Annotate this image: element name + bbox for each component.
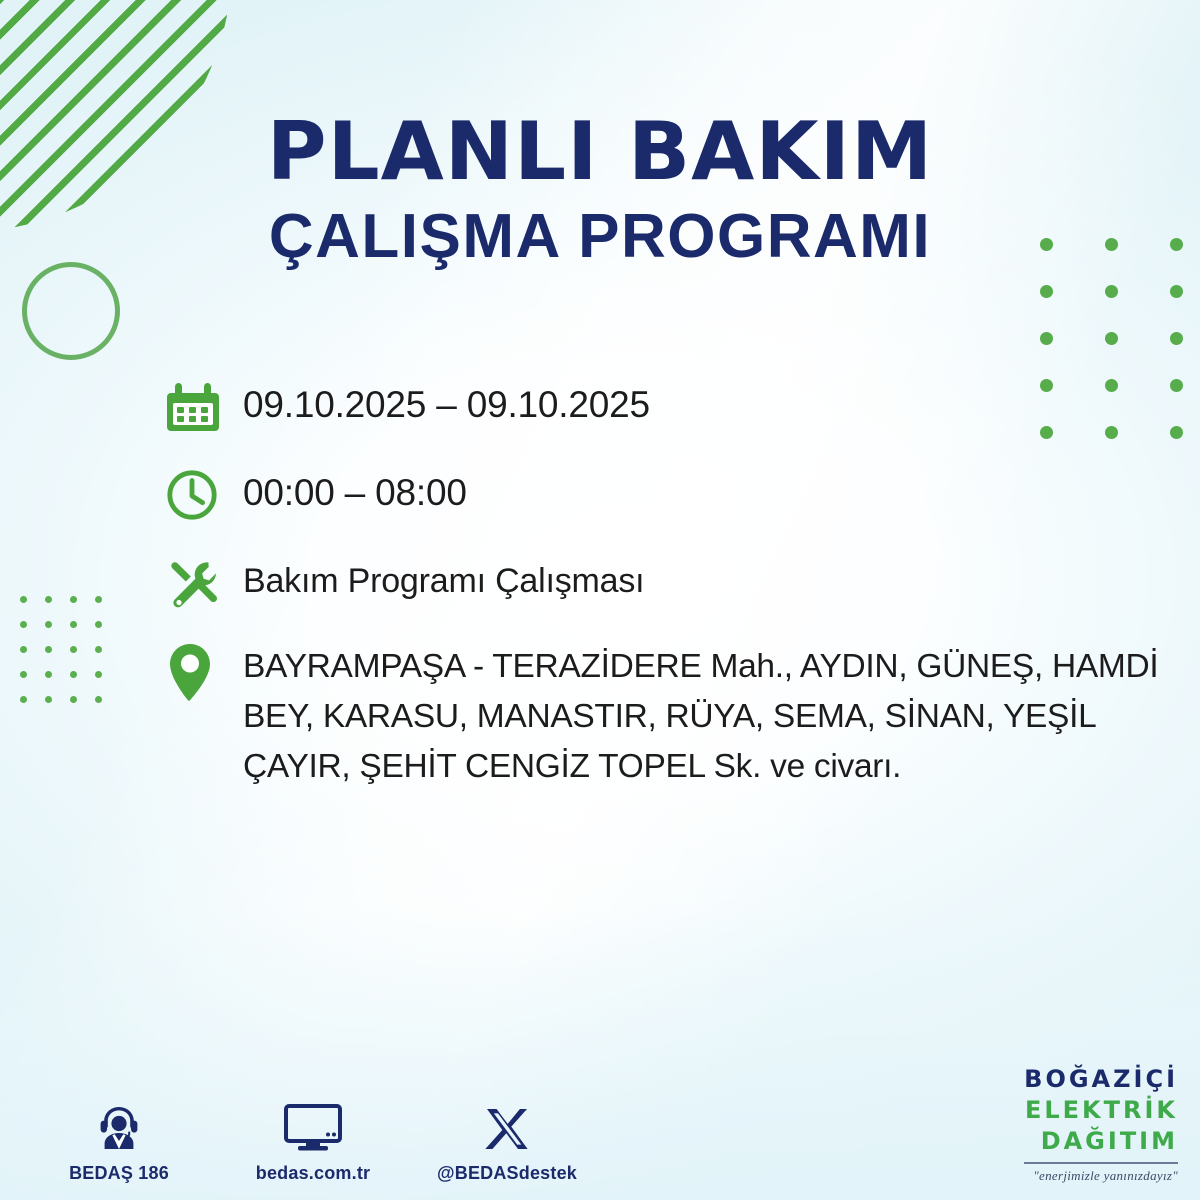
info-row-address: BAYRAMPAŞA - TERAZİDERE Mah., AYDIN, GÜN… [165, 638, 1185, 792]
contact-item-social[interactable]: @BEDASdestek [438, 1095, 576, 1184]
tools-icon [165, 552, 243, 614]
company-logo: BOĞAZİÇİ ELEKTRİK DAĞITIM "enerjimizle y… [1024, 1067, 1178, 1182]
contact-label-website: bedas.com.tr [256, 1163, 370, 1184]
monitor-icon [284, 1095, 342, 1153]
address-value: BAYRAMPAŞA - TERAZİDERE Mah., AYDIN, GÜN… [243, 638, 1185, 792]
contact-list: BEDAŞ 186 bedas.com.tr [50, 1095, 576, 1184]
logo-tagline: "enerjimizle yanınızdayız" [1024, 1169, 1178, 1182]
logo-line-bogazici: BOĞAZİÇİ [1024, 1067, 1178, 1091]
logo-divider [1024, 1162, 1178, 1164]
contact-item-phone[interactable]: BEDAŞ 186 [50, 1095, 188, 1184]
poster-header: PLANLI BAKIM ÇALIŞMA PROGRAMI [0, 112, 1200, 268]
headset-support-icon [94, 1095, 144, 1153]
time-range-value: 00:00 – 08:00 [243, 464, 467, 518]
clock-icon [165, 464, 243, 526]
poster-footer: BEDAŞ 186 bedas.com.tr [0, 1030, 1200, 1200]
calendar-icon [165, 376, 243, 438]
x-twitter-icon [483, 1095, 531, 1153]
info-row-time: 00:00 – 08:00 [165, 464, 1185, 526]
poster-canvas: PLANLI BAKIM ÇALIŞMA PROGRAMI [0, 0, 1200, 1200]
work-type-value: Bakım Programı Çalışması [243, 552, 644, 606]
logo-line-elektrik: ELEKTRİK [1024, 1098, 1178, 1122]
contact-item-website[interactable]: bedas.com.tr [244, 1095, 382, 1184]
contact-label-social: @BEDASdestek [437, 1163, 577, 1184]
logo-line-dagitim: DAĞITIM [1024, 1129, 1178, 1153]
circle-outline-decoration [22, 262, 120, 360]
info-list: 09.10.2025 – 09.10.2025 00:00 – 08:00 [165, 376, 1185, 818]
location-pin-icon [165, 638, 243, 698]
dot-grid-left-decoration [20, 596, 120, 721]
info-row-work-type: Bakım Programı Çalışması [165, 552, 1185, 614]
page-title-main: PLANLI BAKIM [0, 112, 1200, 192]
page-title-sub: ÇALIŞMA PROGRAMI [0, 206, 1200, 268]
contact-label-phone: BEDAŞ 186 [69, 1163, 169, 1184]
info-row-date: 09.10.2025 – 09.10.2025 [165, 376, 1185, 438]
date-range-value: 09.10.2025 – 09.10.2025 [243, 376, 650, 430]
